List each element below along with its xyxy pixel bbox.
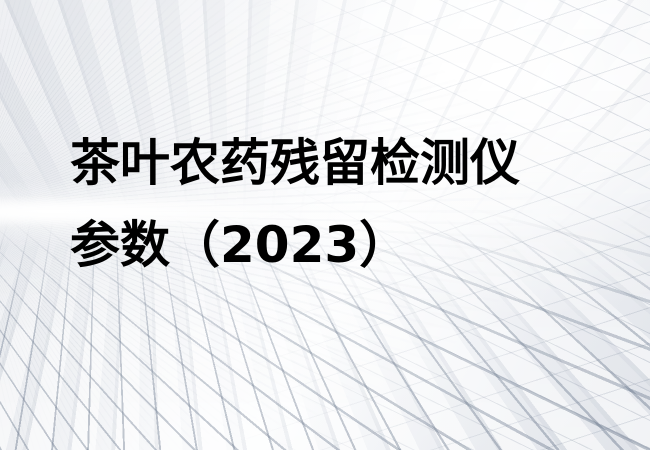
- page-title: 茶叶农药残留检测仪 参数（2023）: [70, 122, 610, 286]
- banner-canvas: 茶叶农药残留检测仪 参数（2023）: [0, 0, 650, 450]
- page-title-line-2: 参数（2023）: [70, 204, 610, 286]
- page-title-line-1: 茶叶农药残留检测仪: [70, 122, 610, 204]
